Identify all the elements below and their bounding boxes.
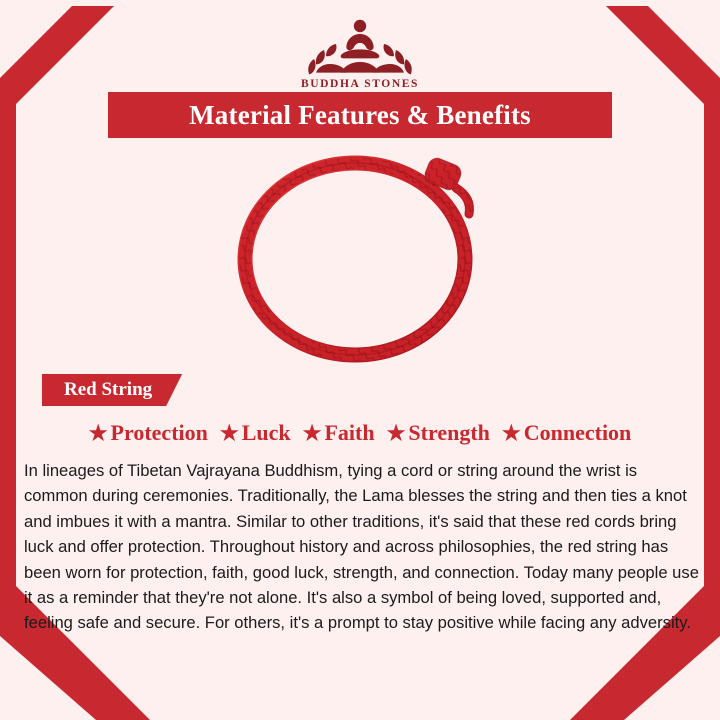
benefit-label: Strength [408,420,490,446]
benefit-item-luck: ★ Luck [220,420,303,446]
star-icon: ★ [387,421,406,446]
benefit-label: Connection [524,420,632,446]
benefit-item-protection: ★ Protection [89,420,220,446]
product-image-area [16,138,704,370]
star-icon: ★ [89,421,108,446]
brand-name: BUDDHA STONES [0,78,720,90]
benefit-label: Protection [111,420,208,446]
section-title-banner: Material Features & Benefits [108,92,612,138]
infographic-page: BUDDHA STONES Material Features & Benefi… [0,0,720,720]
star-icon: ★ [220,421,239,446]
benefit-label: Luck [242,420,291,446]
benefit-label: Faith [324,420,374,446]
brand-logo: BUDDHA STONES [0,14,720,90]
benefit-item-connection: ★ Connection [502,420,631,446]
product-label: Red String [64,379,152,401]
red-string-bracelet-image [200,146,520,368]
product-label-tab: Red String [42,374,182,406]
top-accent-strip [16,0,704,6]
page-title: Material Features & Benefits [189,100,531,131]
benefit-item-strength: ★ Strength [387,420,502,446]
star-icon: ★ [303,421,322,446]
lotus-meditation-icon [306,14,414,76]
benefits-row: ★ Protection ★ Luck ★ Faith ★ Strength ★… [24,420,696,446]
benefit-item-faith: ★ Faith [303,420,387,446]
star-icon: ★ [502,421,521,446]
description-paragraph: In lineages of Tibetan Vajrayana Buddhis… [24,458,700,636]
